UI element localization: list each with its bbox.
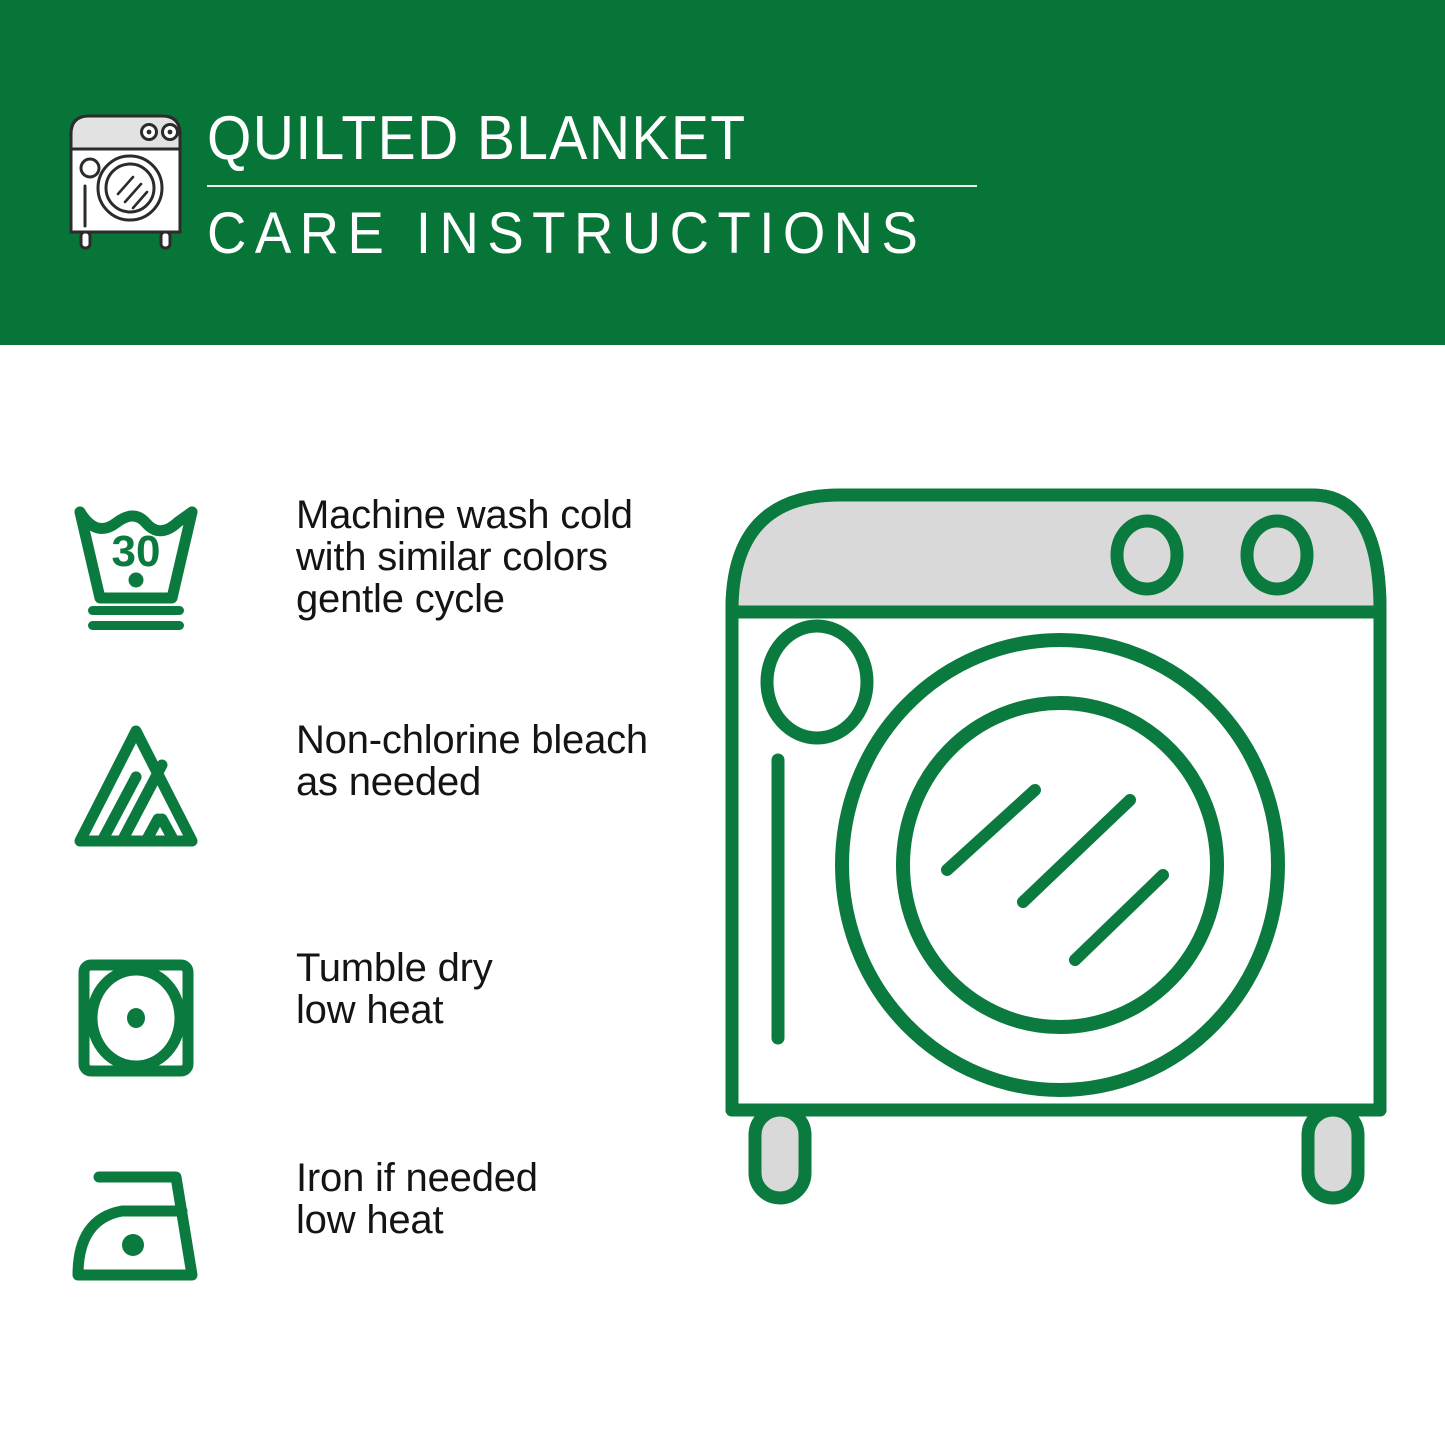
non-chlorine-bleach-triangle-icon <box>66 715 226 865</box>
page-subtitle: CARE INSTRUCTIONS <box>207 201 950 267</box>
care-line: Machine wash cold <box>296 494 633 536</box>
machine-leg-left <box>755 1110 805 1198</box>
iron-low-heat-icon <box>66 1153 226 1303</box>
care-line: low heat <box>296 989 493 1031</box>
care-line: Iron if needed <box>296 1157 538 1199</box>
care-item-text: Tumble dry low heat <box>296 943 493 1031</box>
care-item-bleach: Non-chlorine bleach as needed <box>66 715 686 865</box>
care-item-machine-wash: 30 Machine wash cold with similar colors… <box>66 490 686 640</box>
care-line: low heat <box>296 1199 538 1241</box>
care-line: as needed <box>296 761 648 803</box>
machine-knob-left <box>1117 521 1177 589</box>
title-divider <box>207 185 977 187</box>
page-title: QUILTED BLANKET <box>207 103 934 175</box>
care-line: Non-chlorine bleach <box>296 719 648 761</box>
front-load-washing-machine-illustration <box>700 460 1420 1380</box>
care-item-text: Iron if needed low heat <box>296 1153 538 1241</box>
header-band: QUILTED BLANKET CARE INSTRUCTIONS <box>0 0 1445 345</box>
wash-temperature-label: 30 <box>112 527 161 576</box>
care-item-tumble-dry: Tumble dry low heat <box>66 943 686 1093</box>
machine-dispenser-icon <box>767 626 867 738</box>
header-text-block: QUILTED BLANKET CARE INSTRUCTIONS <box>207 103 997 267</box>
machine-knob-right <box>1247 521 1307 589</box>
washing-machine-icon <box>63 104 188 254</box>
wash-tub-30-gentle-icon: 30 <box>66 490 226 640</box>
care-instruction-list: 30 Machine wash cold with similar colors… <box>0 345 700 1445</box>
machine-leg-right <box>1308 1110 1358 1198</box>
care-line: gentle cycle <box>296 578 633 620</box>
tumble-dry-low-icon <box>66 943 226 1093</box>
care-item-iron: Iron if needed low heat <box>66 1153 686 1303</box>
care-item-text: Machine wash cold with similar colors ge… <box>296 490 633 620</box>
care-item-text: Non-chlorine bleach as needed <box>296 715 648 803</box>
care-line: Tumble dry <box>296 947 493 989</box>
care-line: with similar colors <box>296 536 633 578</box>
care-instructions-infographic: QUILTED BLANKET CARE INSTRUCTIONS 30 <box>0 0 1445 1445</box>
